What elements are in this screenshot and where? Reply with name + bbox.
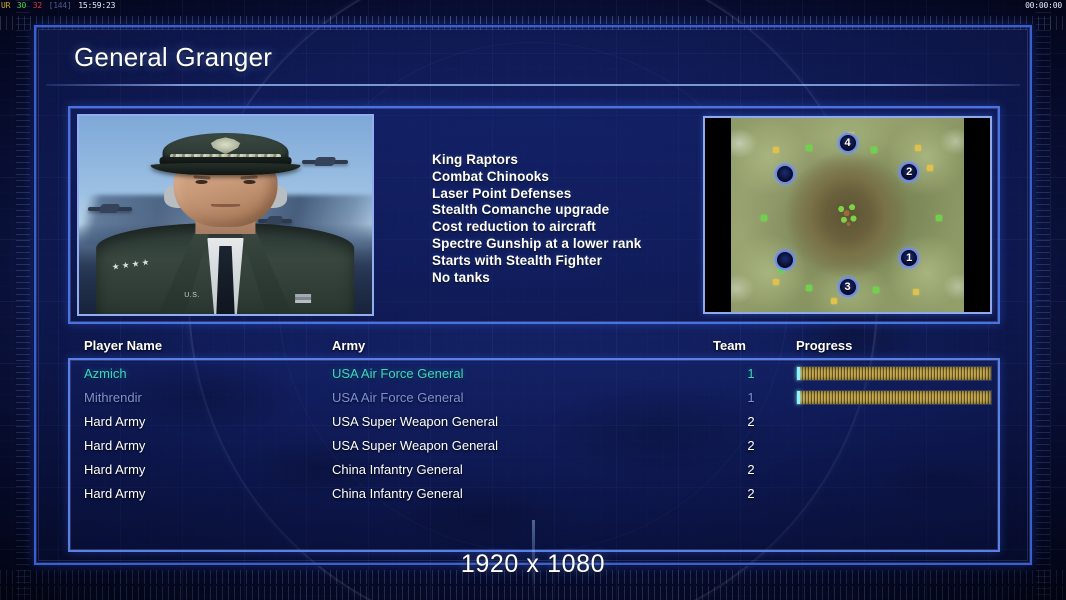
map-resource-node	[873, 287, 879, 293]
cell-player-name: Hard Army	[84, 434, 145, 458]
star-icon	[141, 259, 149, 267]
cell-team: 2	[740, 482, 762, 506]
column-header-team: Team	[713, 338, 746, 353]
eye-left	[196, 180, 208, 184]
military-cap	[151, 133, 301, 173]
map-start-position-1: 1	[899, 248, 919, 268]
cell-player-name: Hard Army	[84, 458, 145, 482]
map-center-structures	[831, 200, 865, 230]
mission-timer: 00:00:00	[1025, 0, 1062, 11]
map-resource-node	[773, 147, 779, 153]
cell-player-name: Hard Army	[84, 482, 145, 506]
table-row: Hard ArmyUSA Super Weapon General2	[70, 434, 998, 458]
star-icon	[122, 262, 130, 270]
cell-army: USA Super Weapon General	[332, 410, 498, 434]
map-resource-node	[871, 147, 877, 153]
cell-player-name: Azmich	[84, 362, 127, 386]
general-abilities-list: King RaptorsCombat ChinooksLaser Point D…	[432, 152, 641, 286]
table-row: Hard ArmyChina Infantry General2	[70, 458, 998, 482]
debug-token-clock: 15:59:23	[77, 1, 116, 10]
column-header-progress: Progress	[796, 338, 852, 353]
officer-figure: U.S.	[97, 124, 355, 314]
table-row: AzmichUSA Air Force General1	[70, 362, 998, 386]
map-start-position-empty	[775, 250, 795, 270]
progress-bar	[796, 366, 992, 381]
cell-army: USA Air Force General	[332, 362, 464, 386]
progress-bar-fill	[797, 391, 991, 404]
table-row: MithrendirUSA Air Force General1	[70, 386, 998, 410]
cell-army: USA Air Force General	[332, 386, 464, 410]
player-list-headers: Player Name Army Team Progress	[68, 338, 1000, 358]
loading-screen: UR 30 32 [144] 15:59:23 00:00:00 General…	[0, 0, 1066, 600]
ability-item: Starts with Stealth Fighter	[432, 253, 641, 270]
ability-item: Combat Chinooks	[432, 169, 641, 186]
map-start-position-3: 3	[838, 277, 858, 297]
debug-token-frame: 32	[32, 1, 43, 10]
cell-player-name: Hard Army	[84, 410, 145, 434]
cell-team: 2	[740, 458, 762, 482]
cell-player-name: Mithrendir	[84, 386, 142, 410]
debug-status-bar: UR 30 32 [144] 15:59:23	[0, 0, 1066, 11]
eyebrow-left	[193, 175, 210, 179]
cell-army: China Infantry General	[332, 458, 463, 482]
resolution-label: 1920 x 1080	[0, 550, 1066, 579]
cell-team: 1	[740, 362, 762, 386]
ability-item: Laser Point Defenses	[432, 186, 641, 203]
map-resource-node	[806, 285, 812, 291]
title-divider	[46, 84, 1020, 86]
us-insignia: U.S.	[184, 292, 200, 299]
cap-visor	[151, 163, 301, 175]
cell-team: 2	[740, 434, 762, 458]
ability-item: No tanks	[432, 270, 641, 287]
star-icon	[132, 260, 140, 268]
ability-item: King Raptors	[432, 152, 641, 169]
progress-bar	[796, 390, 992, 405]
page-title: General Granger	[46, 42, 272, 73]
star-icon	[112, 263, 120, 271]
map-letterbox-left	[705, 118, 731, 312]
cell-army: USA Super Weapon General	[332, 434, 498, 458]
debug-token-count: [144]	[48, 1, 73, 10]
progress-bar-head	[797, 367, 800, 380]
map-resource-node	[761, 215, 767, 221]
progress-bar-head	[797, 391, 800, 404]
map-resource-node	[915, 145, 921, 151]
cell-team: 2	[740, 410, 762, 434]
debug-token-ur: UR	[0, 1, 11, 10]
ability-item: Spectre Gunship at a lower rank	[432, 236, 641, 253]
map-resource-node	[913, 289, 919, 295]
map-letterbox-right	[964, 118, 990, 312]
map-resource-node	[936, 215, 942, 221]
debug-token-fps: 30	[16, 1, 27, 10]
map-resource-node	[806, 145, 812, 151]
map-preview: 4213	[703, 116, 992, 314]
map-resource-node	[831, 298, 837, 304]
mouth	[211, 204, 240, 207]
table-row: Hard ArmyChina Infantry General2	[70, 482, 998, 506]
map-start-position-empty	[775, 164, 795, 184]
cell-army: China Infantry General	[332, 482, 463, 506]
map-resource-node	[773, 279, 779, 285]
title-bar: General Granger	[46, 32, 1020, 82]
service-ribbon	[295, 294, 311, 303]
column-header-army: Army	[332, 338, 365, 353]
table-row: Hard ArmyUSA Super Weapon General2	[70, 410, 998, 434]
ability-item: Cost reduction to aircraft	[432, 219, 641, 236]
ability-item: Stealth Comanche upgrade	[432, 202, 641, 219]
map-resource-node	[927, 165, 933, 171]
eyebrow-right	[241, 175, 258, 179]
general-portrait: U.S.	[77, 114, 374, 316]
map-start-position-4: 4	[838, 133, 858, 153]
cell-team: 1	[740, 386, 762, 410]
progress-bar-fill	[797, 367, 991, 380]
column-header-player-name: Player Name	[84, 338, 162, 353]
portrait-image: U.S.	[79, 116, 372, 314]
eye-right	[243, 180, 255, 184]
